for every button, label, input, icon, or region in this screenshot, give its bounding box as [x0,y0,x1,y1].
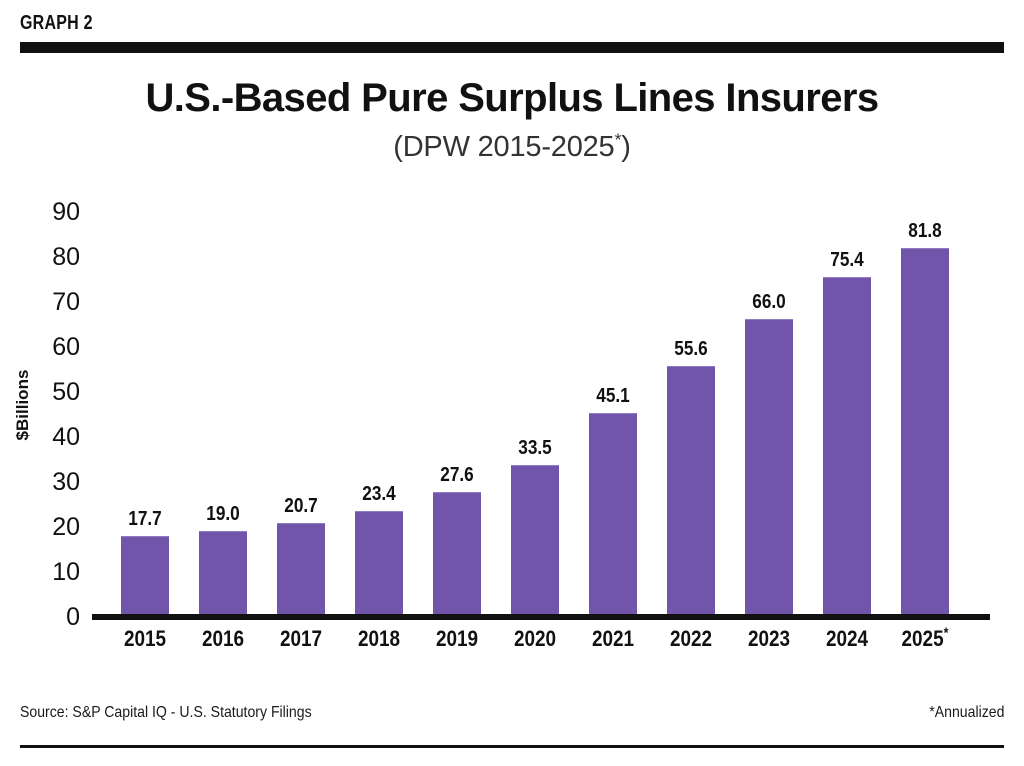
y-axis-tick-20: 20 [22,514,80,540]
x-axis-tick-2016: 2016 [189,626,256,652]
bar-2019[interactable] [433,492,481,617]
chart-subtitle: (DPW 2015-2025*) [0,129,1024,165]
bar-2016[interactable] [199,531,247,618]
bar-value-label-2015: 17.7 [111,508,178,530]
page-title: U.S.-Based Pure Surplus Lines Insurers [0,74,1024,122]
plot-area: 17.719.020.723.427.633.545.155.666.075.4… [92,212,990,617]
bar-value-label-2018: 23.4 [345,483,412,505]
x-axis-tick-asterisk: * [944,626,949,642]
x-axis-tick-2018: 2018 [345,626,412,652]
bar-slot-2021: 45.1 [574,212,652,617]
x-axis-tick-2023: 2023 [735,626,802,652]
bar-value-label-2021: 45.1 [579,385,646,407]
y-axis-tick-60: 60 [22,334,80,360]
bar-2018[interactable] [355,511,403,617]
graph-number-label: GRAPH 2 [20,13,93,33]
bar-slot-2018: 23.4 [340,212,418,617]
x-axis-tick-text: 2025 [902,626,944,651]
x-axis-tick-2020: 2020 [501,626,568,652]
x-axis-tick-2024: 2024 [813,626,880,652]
bar-value-label-2025: 81.8 [891,220,958,242]
bar-value-label-2016: 19.0 [189,503,256,525]
bar-slot-2016: 19.0 [184,212,262,617]
y-axis-tick-70: 70 [22,289,80,315]
bar-slot-2024: 75.4 [808,212,886,617]
x-axis-baseline [92,614,990,620]
footer-source-text: Source: S&P Capital IQ - U.S. Statutory … [20,703,312,723]
bar-2015[interactable] [121,536,169,617]
y-axis-tick-10: 10 [22,559,80,585]
subtitle-prefix: (DPW 2015-2025 [393,131,614,163]
bar-slot-2019: 27.6 [418,212,496,617]
bar-value-label-2017: 20.7 [267,495,334,517]
bar-2023[interactable] [745,319,793,617]
y-axis-tick-80: 80 [22,244,80,270]
x-axis-tick-2015: 2015 [111,626,178,652]
x-axis-tick-2025: 2025* [891,626,958,652]
bar-slot-2025: 81.8 [886,212,964,617]
bar-value-label-2024: 75.4 [813,249,880,271]
x-axis-tick-2022: 2022 [657,626,724,652]
bar-2025[interactable] [901,248,949,617]
bar-slot-2020: 33.5 [496,212,574,617]
bar-value-label-2020: 33.5 [501,437,568,459]
header-divider-rule [20,42,1004,53]
footer-divider-rule [20,745,1004,748]
footer-annotation-text: *Annualized [929,703,1004,723]
x-axis-tick-2019: 2019 [423,626,490,652]
x-axis-tick-2017: 2017 [267,626,334,652]
bar-value-label-2022: 55.6 [657,338,724,360]
bar-2024[interactable] [823,277,871,617]
bar-slot-2023: 66.0 [730,212,808,617]
y-axis-tick-40: 40 [22,424,80,450]
bar-2020[interactable] [511,465,559,617]
y-axis-tick-0: 0 [22,604,80,630]
y-axis-tick-30: 30 [22,469,80,495]
bar-slot-2015: 17.7 [106,212,184,617]
bar-value-label-2023: 66.0 [735,291,802,313]
y-axis-tick-50: 50 [22,379,80,405]
bar-slot-2017: 20.7 [262,212,340,617]
bar-value-label-2019: 27.6 [423,464,490,486]
bar-2017[interactable] [277,523,325,617]
bar-2022[interactable] [667,366,715,617]
x-axis-tick-2021: 2021 [579,626,646,652]
subtitle-suffix: ) [621,131,630,163]
bar-2021[interactable] [589,413,637,617]
y-axis-tick-90: 90 [22,199,80,225]
bar-slot-2022: 55.6 [652,212,730,617]
